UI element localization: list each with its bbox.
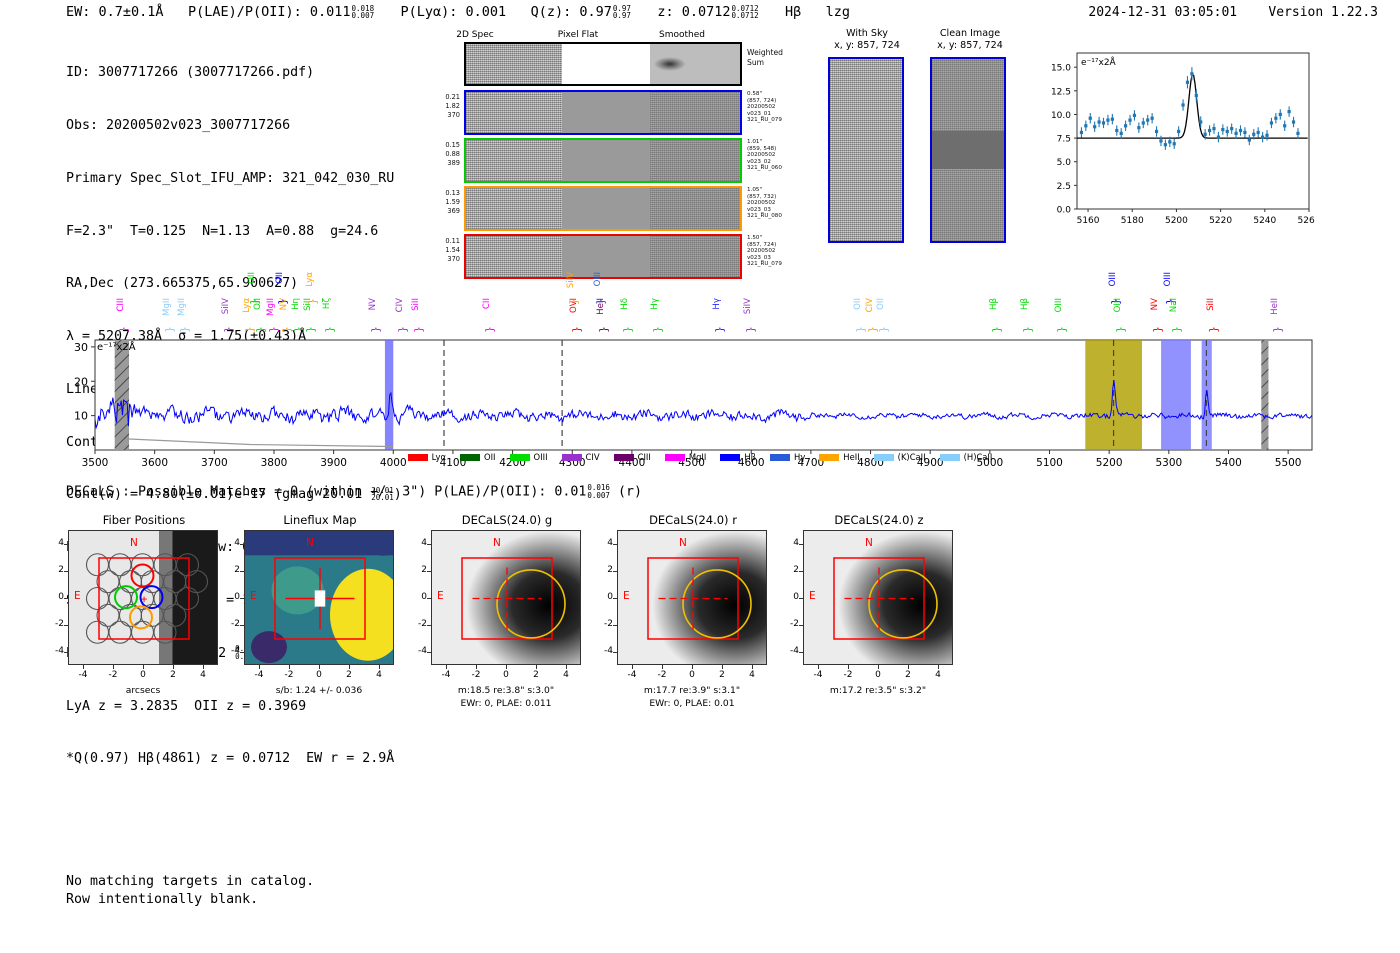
emission-label-mgii-1: MgII: [163, 298, 172, 316]
spec2d-col-title-1: Pixel Flat: [530, 30, 626, 40]
xtick-0-2: 2: [164, 670, 182, 680]
fiber-row-3-meta: 1.50"(857, 724)20200502v023_03321_RU_079: [747, 235, 807, 268]
ytick-mark-3-2: [613, 571, 617, 572]
panel-caption-3: m:17.7 re:3.9" s:3.1": [601, 685, 783, 697]
ytick-mark-1--2: [240, 625, 244, 626]
panel-title-4: DECaLS(24.0) z: [789, 513, 969, 527]
z-errors: 0.07120.0712: [732, 5, 759, 20]
ytick-mark-2-2: [427, 571, 431, 572]
ytick-2-4: 4: [413, 538, 427, 548]
ytick-4-0: 0: [785, 592, 799, 602]
ytick-0--2: -2: [50, 619, 64, 629]
legend-swatch-1: [460, 454, 480, 461]
fiber-row-1-pixelflat: [562, 140, 650, 181]
ytick-1-4: 4: [226, 538, 240, 548]
ytick-mark-1-4: [240, 544, 244, 545]
xtick-mark-1-4: [379, 665, 380, 669]
ytick-mark-2-4: [427, 544, 431, 545]
xtick-mark-1-2: [349, 665, 350, 669]
compass-east-3: E: [623, 590, 630, 602]
z-value: 0.0712: [682, 4, 731, 20]
ytick-mark-0-2: [64, 571, 68, 572]
xtick-mark-1-0: [319, 665, 320, 669]
legend-swatch-10: [940, 454, 960, 461]
ytick-0-4: 4: [50, 538, 64, 548]
legend-item-ciii: CIII: [614, 452, 651, 462]
emission-brace-36: }: [1170, 326, 1183, 333]
emission-brace-2: }: [178, 326, 191, 333]
emission-brace-23: }: [651, 326, 664, 333]
cutout-title-0: With Sky x, y: 857, 724: [818, 28, 916, 51]
xtick-mark-1--2: [289, 665, 290, 669]
svg-text:12.5: 12.5: [1051, 87, 1071, 97]
cutout-with-sky: [828, 57, 904, 243]
ytick-4--2: -2: [785, 619, 799, 629]
svg-text:5200: 5200: [1165, 216, 1188, 226]
legend-swatch-4: [614, 454, 634, 461]
svg-text:+: +: [141, 593, 148, 606]
xtick-4--4: -4: [809, 670, 827, 680]
emission-brace-31: }: [1055, 326, 1068, 333]
fiber-row-0-smoothed: [650, 92, 740, 133]
emission-label-civ-15: CIV: [396, 298, 405, 312]
emission-brace-14: }: [369, 326, 382, 333]
info-line-id: ID: 3007717266 (3007717266.pdf): [66, 64, 402, 82]
xtick-3--4: -4: [623, 670, 641, 680]
ytick-mark-3-4: [613, 544, 617, 545]
ytick-2-0: 0: [413, 592, 427, 602]
compass-north-1: N: [306, 537, 314, 549]
emission-label-lyα-12: Lyα: [306, 272, 315, 287]
emission-label-hη-10: Hη: [292, 298, 301, 310]
xtick-mark-2--2: [476, 665, 477, 669]
fiber-row-1-stats: 0.150.88389: [428, 141, 460, 169]
emission-brace-19: }: [567, 298, 580, 305]
cutout-clean-image: [930, 57, 1006, 243]
weighted-sum-row: [464, 42, 742, 86]
fiber-row-2-pixelflat: [562, 188, 650, 229]
emission-brace-13: }: [323, 326, 336, 333]
weighted-sum-pixelflat: [562, 44, 650, 84]
legend-swatch-0: [408, 454, 428, 461]
ytick-mark-4--2: [799, 625, 803, 626]
xtick-mark-1--4: [259, 665, 260, 669]
xtick-3-4: 4: [743, 670, 761, 680]
emission-brace-34: }: [1151, 326, 1164, 333]
panel-title-1: Lineflux Map: [230, 513, 410, 527]
xtick-mark-0--2: [113, 665, 114, 669]
ytick-mark-4--4: [799, 652, 803, 653]
ytick-3-0: 0: [599, 592, 613, 602]
timestamp: 2024-12-31 03:05:01: [1088, 5, 1237, 20]
xtick-0--2: -2: [104, 670, 122, 680]
line-id: Hβ: [785, 4, 801, 20]
emission-brace-24: }: [713, 326, 726, 333]
emission-brace-30: }: [1021, 326, 1034, 333]
ytick-1--2: -2: [226, 619, 240, 629]
decals-header-suffix: (r): [618, 485, 642, 500]
xtick-2-0: 0: [497, 670, 515, 680]
image-panel-3[interactable]: [617, 530, 767, 665]
ytick-2-2: 2: [413, 565, 427, 575]
emission-label-oii-8: OII: [276, 272, 285, 284]
xtick-mark-3-2: [722, 665, 723, 669]
xtick-mark-4--4: [818, 665, 819, 669]
qz-errors: 0.970.97: [613, 5, 631, 20]
xtick-3--2: -2: [653, 670, 671, 680]
legend-item-mgii: MgII: [665, 452, 706, 462]
emission-label-hδ-22: Hδ: [621, 298, 630, 310]
xtick-4-4: 4: [929, 670, 947, 680]
emission-label-mgii-7: MgII: [267, 298, 276, 316]
fiber-row-0-pixelflat: [562, 92, 650, 133]
ytick-mark-0-4: [64, 544, 68, 545]
compass-east-0: E: [74, 590, 81, 602]
ew-value: 0.7±0.1Å: [99, 4, 164, 20]
xtick-1-4: 4: [370, 670, 388, 680]
xtick-mark-3-4: [752, 665, 753, 669]
ytick-2--4: -4: [413, 646, 427, 656]
fiber-row-2-2dspec: [466, 188, 562, 229]
emission-line-legend: LyαOIIOIIICIVCIIIMgIIHβHγHeII(K)CaII(H)C…: [0, 452, 1400, 462]
legend-label-7: Hγ: [794, 452, 805, 462]
legend-item-hcaii: (H)CaII: [940, 452, 993, 462]
emission-label-oiii-33: OIII: [1114, 298, 1123, 312]
fiber-row-2-stats: 0.131.59369: [428, 189, 460, 217]
emission-label-oii-4: OII: [248, 272, 257, 284]
ytick-0-2: 2: [50, 565, 64, 575]
legend-item-civ: CIV: [562, 452, 600, 462]
panel-caption-1: s/b: 1.24 +/- 0.036: [228, 685, 410, 697]
legend-swatch-8: [819, 454, 839, 461]
cutout-0-title: With Sky: [818, 28, 916, 40]
fiber-row-0: [464, 90, 742, 135]
emission-label-hγ-23: Hγ: [651, 298, 660, 310]
xtick-0-0: 0: [134, 670, 152, 680]
legend-swatch-3: [562, 454, 582, 461]
timestamp-version: 2024-12-31 03:05:01 Version 1.22.3: [1088, 5, 1378, 20]
emission-label-oii-28: OII: [877, 298, 886, 310]
emission-label-oiii-21: OIII: [594, 272, 603, 286]
svg-text:e⁻¹⁷x2Å: e⁻¹⁷x2Å: [97, 340, 136, 353]
xtick-3-2: 2: [713, 670, 731, 680]
panel-title-2: DECaLS(24.0) g: [417, 513, 597, 527]
svg-text:7.5: 7.5: [1057, 135, 1071, 145]
emission-brace-7: }: [267, 326, 280, 333]
fiber-row-3-stats: 0.111.54370: [428, 237, 460, 265]
qz-value: 0.97: [579, 4, 612, 20]
full-spectrum-chart: 1020303500360037003800390040004100420043…: [0, 268, 1400, 478]
ytick-mark-4-4: [799, 544, 803, 545]
cutout-0-coords: x, y: 857, 724: [818, 40, 916, 52]
emission-label-lyα-5: Lyα: [243, 298, 252, 313]
emission-label-cii-17: CII: [483, 298, 492, 309]
qz-label: Q(z):: [531, 4, 572, 20]
xtick-2-2: 2: [527, 670, 545, 680]
xtick-1-2: 2: [340, 670, 358, 680]
fiber-row-2-meta: 1.05"(857, 732)20200502v023_03321_RU_080: [747, 187, 807, 220]
fiber-row-0-2dspec: [466, 92, 562, 133]
ytick-3-2: 2: [599, 565, 613, 575]
fiber-row-1-meta: 1.01"(859, 548)20200502v023_02321_RU_060: [747, 139, 807, 172]
compass-north-2: N: [493, 537, 501, 549]
svg-text:5180: 5180: [1121, 216, 1144, 226]
quality-flag: lzg: [826, 4, 850, 20]
emission-brace-20: }: [597, 326, 610, 333]
emission-label-nv-14: NV: [369, 298, 378, 310]
svg-text:20: 20: [74, 375, 88, 388]
fiber-row-1-smoothed: [650, 140, 740, 181]
xtick-mark-0-0: [143, 665, 144, 669]
decals-header-text: DECaLS : Possible Matches = 0 (within +/…: [66, 485, 586, 500]
legend-label-1: OII: [484, 452, 496, 462]
emission-brace-37: }: [1207, 326, 1220, 333]
emission-label-oii-26: OII: [854, 298, 863, 310]
legend-swatch-5: [665, 454, 685, 461]
emission-label-hβ-30: Hβ: [1021, 298, 1030, 310]
xtick-2-4: 4: [557, 670, 575, 680]
emission-brace-17: }: [483, 326, 496, 333]
decals-plae-errors: 0.0160.007: [587, 484, 610, 499]
ew-label: EW:: [66, 4, 90, 20]
ytick-mark-1-0: [240, 598, 244, 599]
svg-text:5.0: 5.0: [1057, 158, 1072, 168]
emission-label-oiii-31: OIII: [1055, 298, 1064, 312]
svg-text:30: 30: [74, 341, 88, 354]
emission-brace-22: }: [621, 326, 634, 333]
emission-label-heii-38: HeII: [1271, 298, 1280, 315]
legend-item-oii: OII: [460, 452, 496, 462]
xtick-1--2: -2: [280, 670, 298, 680]
cutout-1-title: Clean Image: [915, 28, 1025, 40]
legend-item-oiii: OIII: [510, 452, 548, 462]
z-label: z:: [657, 4, 673, 20]
svg-text:5160: 5160: [1077, 216, 1100, 226]
emission-brace-33: }: [1114, 326, 1127, 333]
info-line-redshifts: LyA z = 3.2835 OII z = 0.3969: [66, 698, 402, 716]
emission-brace-25: }: [744, 326, 757, 333]
legend-item-kcaii: (K)CaII: [874, 452, 926, 462]
xtick-1-0: 0: [310, 670, 328, 680]
image-panel-4[interactable]: [803, 530, 953, 665]
svg-text:10: 10: [74, 410, 88, 423]
image-panel-0[interactable]: +: [68, 530, 218, 665]
ytick-0-0: 0: [50, 592, 64, 602]
ytick-1-2: 2: [226, 565, 240, 575]
emission-label-hβ-29: Hβ: [990, 298, 999, 310]
legend-label-2: OIII: [534, 452, 548, 462]
emission-brace-11: }: [304, 326, 317, 333]
xtick-mark-4--2: [848, 665, 849, 669]
plae-value: 0.011: [310, 4, 351, 20]
legend-label-5: MgII: [689, 452, 706, 462]
ytick-mark-4-2: [799, 571, 803, 572]
cutout-title-1: Clean Image x, y: 857, 724: [915, 28, 1025, 51]
emission-brace-0: }: [117, 326, 130, 333]
legend-item-hβ: Hβ: [720, 452, 756, 462]
fiber-row-1-2dspec: [466, 140, 562, 181]
ytick-mark-2--2: [427, 625, 431, 626]
emission-label-oiii-32: OIII: [1109, 272, 1118, 286]
emission-brace-9: }: [280, 326, 293, 333]
svg-text:5260: 5260: [1298, 216, 1315, 226]
emission-label-nv-9: NV: [280, 298, 289, 310]
emission-label-hζ-13: Hζ: [323, 298, 332, 309]
emission-label-nai-36: NaI: [1170, 298, 1179, 312]
plae-label: P(LAE)/P(OII):: [188, 4, 302, 20]
ytick-1-0: 0: [226, 592, 240, 602]
emission-brace-21: }: [594, 298, 607, 305]
panel-title-3: DECaLS(24.0) r: [603, 513, 783, 527]
ytick-1--4: -4: [226, 646, 240, 656]
xtick-4-2: 2: [899, 670, 917, 680]
emission-label-oii-6: OII: [254, 298, 263, 310]
weighted-sum-2dspec: [466, 44, 562, 84]
fiber-row-0-stats: 0.211.82370: [428, 93, 460, 121]
fiber-row-2: [464, 186, 742, 231]
plya-label: P(Lyα):: [401, 4, 458, 20]
xtick-3-0: 0: [683, 670, 701, 680]
legend-label-9: (K)CaII: [898, 452, 926, 462]
compass-north-0: N: [130, 537, 138, 549]
info-line-specslot: Primary Spec_Slot_IFU_AMP: 321_042_030_R…: [66, 170, 402, 188]
xtick-mark-4-4: [938, 665, 939, 669]
legend-swatch-6: [720, 454, 740, 461]
xtick-2--2: -2: [467, 670, 485, 680]
emission-label-siiv-3: SiIV: [222, 298, 231, 314]
ytick-mark-3--2: [613, 625, 617, 626]
svg-text:15.0: 15.0: [1051, 64, 1071, 74]
weighted-sum-smoothed: [650, 44, 740, 84]
emission-label-siiv-25: SiIV: [744, 298, 753, 314]
emission-brace-26: }: [854, 326, 867, 333]
legend-item-heii: HeII: [819, 452, 859, 462]
svg-text:e⁻¹⁷x2Å: e⁻¹⁷x2Å: [1081, 56, 1117, 68]
legend-item-lyα: Lyα: [408, 452, 446, 462]
legend-label-4: CIII: [638, 452, 651, 462]
panel-caption-2: m:18.5 re:3.8" s:3.0": [415, 685, 597, 697]
ytick-mark-2--4: [427, 652, 431, 653]
emission-label-oiii-35: OIII: [1164, 272, 1173, 286]
xtick-mark-4-2: [908, 665, 909, 669]
ytick-mark-3-0: [613, 598, 617, 599]
plya-value: 0.001: [466, 4, 507, 20]
legend-swatch-9: [874, 454, 894, 461]
emission-label-mgii-2: MgII: [178, 298, 187, 316]
ytick-4-4: 4: [785, 538, 799, 548]
emission-brace-16: }: [412, 326, 425, 333]
xtick-1--4: -4: [250, 670, 268, 680]
panel-caption-4: m:17.2 re:3.5" s:3.2": [787, 685, 969, 697]
emission-label-nv-34: NV: [1151, 298, 1160, 310]
ytick-mark-3--4: [613, 652, 617, 653]
ytick-mark-0--2: [64, 625, 68, 626]
xtick-mark-3--4: [632, 665, 633, 669]
emission-brace-28: }: [877, 326, 890, 333]
svg-text:0.0: 0.0: [1057, 206, 1072, 216]
xtick-mark-0--4: [83, 665, 84, 669]
info-line-obs: Obs: 20200502v023_3007717266: [66, 117, 402, 135]
ytick-3--4: -4: [599, 646, 613, 656]
ytick-2--2: -2: [413, 619, 427, 629]
compass-east-4: E: [809, 590, 816, 602]
emission-brace-3: }: [222, 326, 235, 333]
fiber-row-2-smoothed: [650, 188, 740, 229]
panel-title-0: Fiber Positions: [54, 513, 234, 527]
compass-north-3: N: [679, 537, 687, 549]
image-panel-2[interactable]: [431, 530, 581, 665]
ytick-mark-4-0: [799, 598, 803, 599]
emission-brace-12: }: [306, 298, 319, 305]
cutout-1-coords: x, y: 857, 724: [915, 40, 1025, 52]
info-line-params: F=2.3" T=0.125 N=1.13 A=0.88 g=24.6: [66, 223, 402, 241]
xtick-mark-3-0: [692, 665, 693, 669]
emission-label-siii-16: SiII: [412, 298, 421, 311]
xtick-mark-3--2: [662, 665, 663, 669]
ytick-mark-0-0: [64, 598, 68, 599]
legend-label-0: Lyα: [432, 452, 446, 462]
xtick-2--4: -4: [437, 670, 455, 680]
plae-errors: 0.0180.007: [352, 5, 375, 20]
xtick-4-0: 0: [869, 670, 887, 680]
emission-brace-29: }: [990, 326, 1003, 333]
emission-label-civ-27: CIV: [866, 298, 875, 312]
ytick-4-2: 2: [785, 565, 799, 575]
fiber-row-0-meta: 0.58"(857, 724)20200502v023_01321_RU_079: [747, 91, 807, 124]
compass-east-1: E: [250, 590, 257, 602]
panel-xlabel-0: arcsecs: [68, 685, 218, 697]
panel-caption2-2: EWr: 0, PLAE: 0.011: [415, 698, 597, 710]
emission-brace-6: }: [254, 326, 267, 333]
svg-text:5240: 5240: [1253, 216, 1276, 226]
emission-label-hγ-24: Hγ: [713, 298, 722, 310]
xtick-mark-4-0: [878, 665, 879, 669]
emission-brace-1: }: [163, 326, 176, 333]
version: Version 1.22.3: [1268, 5, 1378, 20]
spec2d-col-title-0: 2D Spec: [432, 30, 518, 40]
emission-line-zoom-chart: 0.02.55.07.510.012.515.05160518052005220…: [1033, 45, 1315, 235]
emission-label-siii-37: SiII: [1207, 298, 1216, 311]
info-line-classification: *Q(0.97) Hβ(4861) z = 0.0712 EW r = 2.9Å: [66, 750, 402, 768]
xtick-4--2: -2: [839, 670, 857, 680]
svg-text:5220: 5220: [1209, 216, 1232, 226]
fiber-row-1: [464, 138, 742, 183]
xtick-mark-0-2: [173, 665, 174, 669]
image-panel-1[interactable]: [244, 530, 394, 665]
spec2d-panel: 2D Spec Pixel Flat Smoothed Weighted Sum…: [432, 30, 762, 255]
legend-label-8: HeII: [843, 452, 859, 462]
compass-east-2: E: [437, 590, 444, 602]
svg-text:10.0: 10.0: [1051, 111, 1071, 121]
xtick-0-4: 4: [194, 670, 212, 680]
emission-brace-18: }: [570, 326, 583, 333]
legend-swatch-2: [510, 454, 530, 461]
xtick-mark-0-4: [203, 665, 204, 669]
spec2d-col-title-2: Smoothed: [637, 30, 727, 40]
xtick-0--4: -4: [74, 670, 92, 680]
emission-label-siiv-19: SiIV: [567, 272, 576, 288]
decals-header: DECaLS : Possible Matches = 0 (within +/…: [66, 484, 642, 500]
summary-header: EW: 0.7±0.1Å P(LAE)/P(OII): 0.0110.0180.…: [66, 4, 850, 20]
xtick-mark-2-0: [506, 665, 507, 669]
emission-brace-15: }: [396, 326, 409, 333]
emission-label-ciii-0: CIII: [117, 298, 126, 312]
xtick-mark-2-4: [566, 665, 567, 669]
svg-text:2.5: 2.5: [1057, 182, 1071, 192]
panel-caption2-3: EWr: 0, PLAE: 0.01: [601, 698, 783, 710]
legend-label-10: (H)CaII: [964, 452, 993, 462]
ytick-mark-0--4: [64, 652, 68, 653]
